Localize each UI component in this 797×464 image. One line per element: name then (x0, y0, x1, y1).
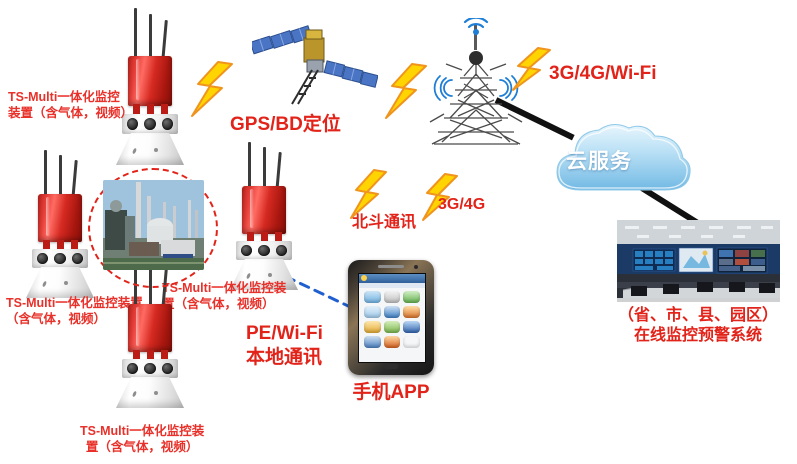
sensor-port (241, 245, 252, 256)
wireless-3g4g-wifi-label: 3G/4G/Wi-Fi (549, 62, 657, 86)
app-icon (403, 336, 420, 348)
device-body (38, 194, 82, 242)
camera-icon (414, 265, 418, 269)
app-icon[interactable] (364, 306, 381, 318)
app-icon[interactable] (364, 321, 381, 333)
sensor-port (54, 253, 66, 264)
sensor-port (37, 253, 48, 264)
app-icon[interactable] (384, 321, 401, 333)
sensor-port (72, 253, 83, 264)
sensor-port (162, 118, 173, 130)
device-base-cone (26, 267, 94, 298)
sensor-port (276, 245, 287, 256)
beidou-label: 北斗通讯 (352, 213, 416, 233)
screen-titlebar (359, 274, 425, 283)
antenna (44, 150, 47, 200)
sensor-port (162, 363, 173, 374)
sensor-port (144, 118, 156, 130)
base-marker (154, 391, 158, 395)
control-room-label: （省、市、县、园区） 在线监控预警系统 (600, 306, 796, 346)
app-icon-grid[interactable] (364, 291, 420, 348)
base-marker (268, 273, 272, 277)
sensor-port (144, 363, 156, 374)
pe-wifi-label: PE/Wi-Fi 本地通讯 (246, 322, 323, 370)
sensor-port (127, 363, 138, 374)
device-speaker (378, 265, 404, 268)
chemical-plant-photo (103, 180, 204, 270)
base-marker (64, 281, 68, 285)
antenna (248, 142, 251, 192)
screen-subbar (359, 283, 425, 288)
device-1-label: TS-Multi一体化监控 装置（含气体，视频） (8, 90, 133, 121)
mobile-3g4g-label: 3G/4G (438, 195, 485, 215)
lightning-bolt-icon (382, 62, 436, 120)
satellite-icon (252, 12, 378, 110)
device-body (128, 56, 172, 106)
control-room-photo (617, 220, 780, 302)
lightning-bolt-icon (188, 60, 242, 118)
app-icon[interactable] (364, 336, 381, 348)
app-icon[interactable] (384, 291, 401, 303)
base-marker (154, 148, 158, 152)
app-icon[interactable] (403, 321, 420, 333)
device-body (128, 304, 172, 352)
app-icon[interactable] (384, 336, 401, 348)
app-icon[interactable] (364, 291, 381, 303)
device-body (242, 186, 286, 234)
app-icon[interactable] (384, 306, 401, 318)
gps-label: GPS/BD定位 (230, 113, 341, 137)
device-screen[interactable] (358, 273, 426, 363)
sensor-port (258, 245, 270, 256)
app-icon[interactable] (403, 291, 420, 303)
device-base-cone (116, 377, 184, 408)
home-button[interactable] (384, 364, 398, 369)
device-4-label: TS-Multi一体化监控装 置（含气体，视频） (80, 424, 204, 455)
app-icon[interactable] (403, 306, 420, 318)
cloud-label: 云服务 (566, 145, 632, 175)
diagram-canvas: TS-Multi一体化监控 装置（含气体，视频） TS-Multi一体化监控装置… (0, 0, 797, 464)
ts-multi-device-1[interactable] (108, 8, 190, 166)
antenna (149, 14, 152, 62)
app-icon (361, 275, 367, 281)
handheld-app-device[interactable] (348, 260, 434, 375)
ts-multi-device-3[interactable] (222, 142, 304, 292)
device-base-cone (116, 133, 184, 165)
antenna (134, 8, 137, 62)
phone-app-label: 手机APP (336, 381, 446, 405)
